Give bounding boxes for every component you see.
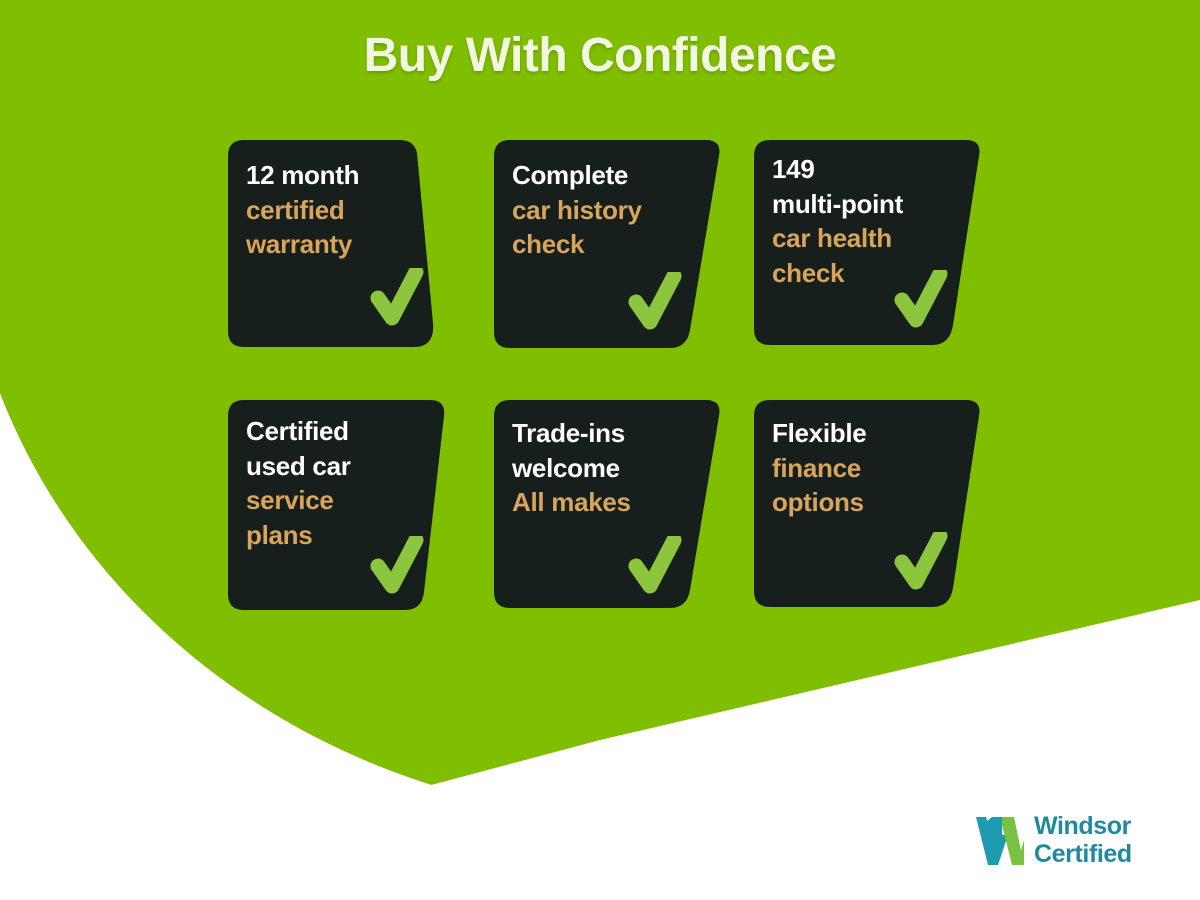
card-line: Flexible — [772, 416, 952, 451]
logo-wordmark: Windsor Certified — [1034, 812, 1132, 868]
card-text-block: Certified used car service plans — [246, 414, 426, 552]
card-line: finance — [772, 451, 952, 486]
card-text-block: 12 month certified warranty — [246, 158, 426, 262]
windsor-w-mark — [972, 814, 1028, 868]
buy-with-confidence-graphic: Buy With Confidence 12 month certified w… — [0, 0, 1200, 900]
checkmark-icon — [628, 272, 682, 334]
benefit-card-service-plans[interactable]: Certified used car service plans — [228, 400, 456, 610]
card-line: Certified — [246, 414, 426, 449]
card-text-block: Trade-ins welcome All makes — [512, 416, 692, 520]
card-text-block: Complete car history check — [512, 158, 692, 262]
card-line: options — [772, 485, 952, 520]
card-line: Trade-ins — [512, 416, 692, 451]
card-line: welcome — [512, 451, 692, 486]
checkmark-icon — [370, 268, 424, 330]
card-line: warranty — [246, 227, 426, 262]
card-line: service — [246, 483, 426, 518]
benefit-card-certified-warranty[interactable]: 12 month certified warranty — [228, 140, 456, 350]
logo-line-2: Certified — [1034, 840, 1132, 868]
card-line: check — [512, 227, 692, 262]
card-line: used car — [246, 449, 426, 484]
card-line: Complete — [512, 158, 692, 193]
card-line: multi-point — [772, 187, 952, 222]
benefit-card-trade-ins[interactable]: Trade-ins welcome All makes — [494, 400, 722, 610]
benefit-card-multi-point-health-check[interactable]: 149 multi-point car health check — [754, 140, 982, 350]
card-line: certified — [246, 193, 426, 228]
card-line: car history — [512, 193, 692, 228]
card-line: car health — [772, 221, 952, 256]
checkmark-icon — [628, 536, 682, 598]
benefit-card-finance-options[interactable]: Flexible finance options — [754, 400, 982, 610]
card-text-block: Flexible finance options — [772, 416, 952, 520]
checkmark-icon — [894, 270, 948, 332]
windsor-certified-logo: Windsor Certified — [972, 812, 1162, 874]
page-title: Buy With Confidence — [0, 28, 1200, 83]
benefit-card-car-history-check[interactable]: Complete car history check — [494, 140, 722, 350]
card-line: 149 — [772, 152, 952, 187]
card-line: 12 month — [246, 158, 426, 193]
benefit-card-grid: 12 month certified warranty Complete car… — [228, 140, 988, 610]
card-line: All makes — [512, 485, 692, 520]
checkmark-icon — [370, 536, 424, 598]
checkmark-icon — [894, 532, 948, 594]
logo-line-1: Windsor — [1034, 812, 1132, 840]
